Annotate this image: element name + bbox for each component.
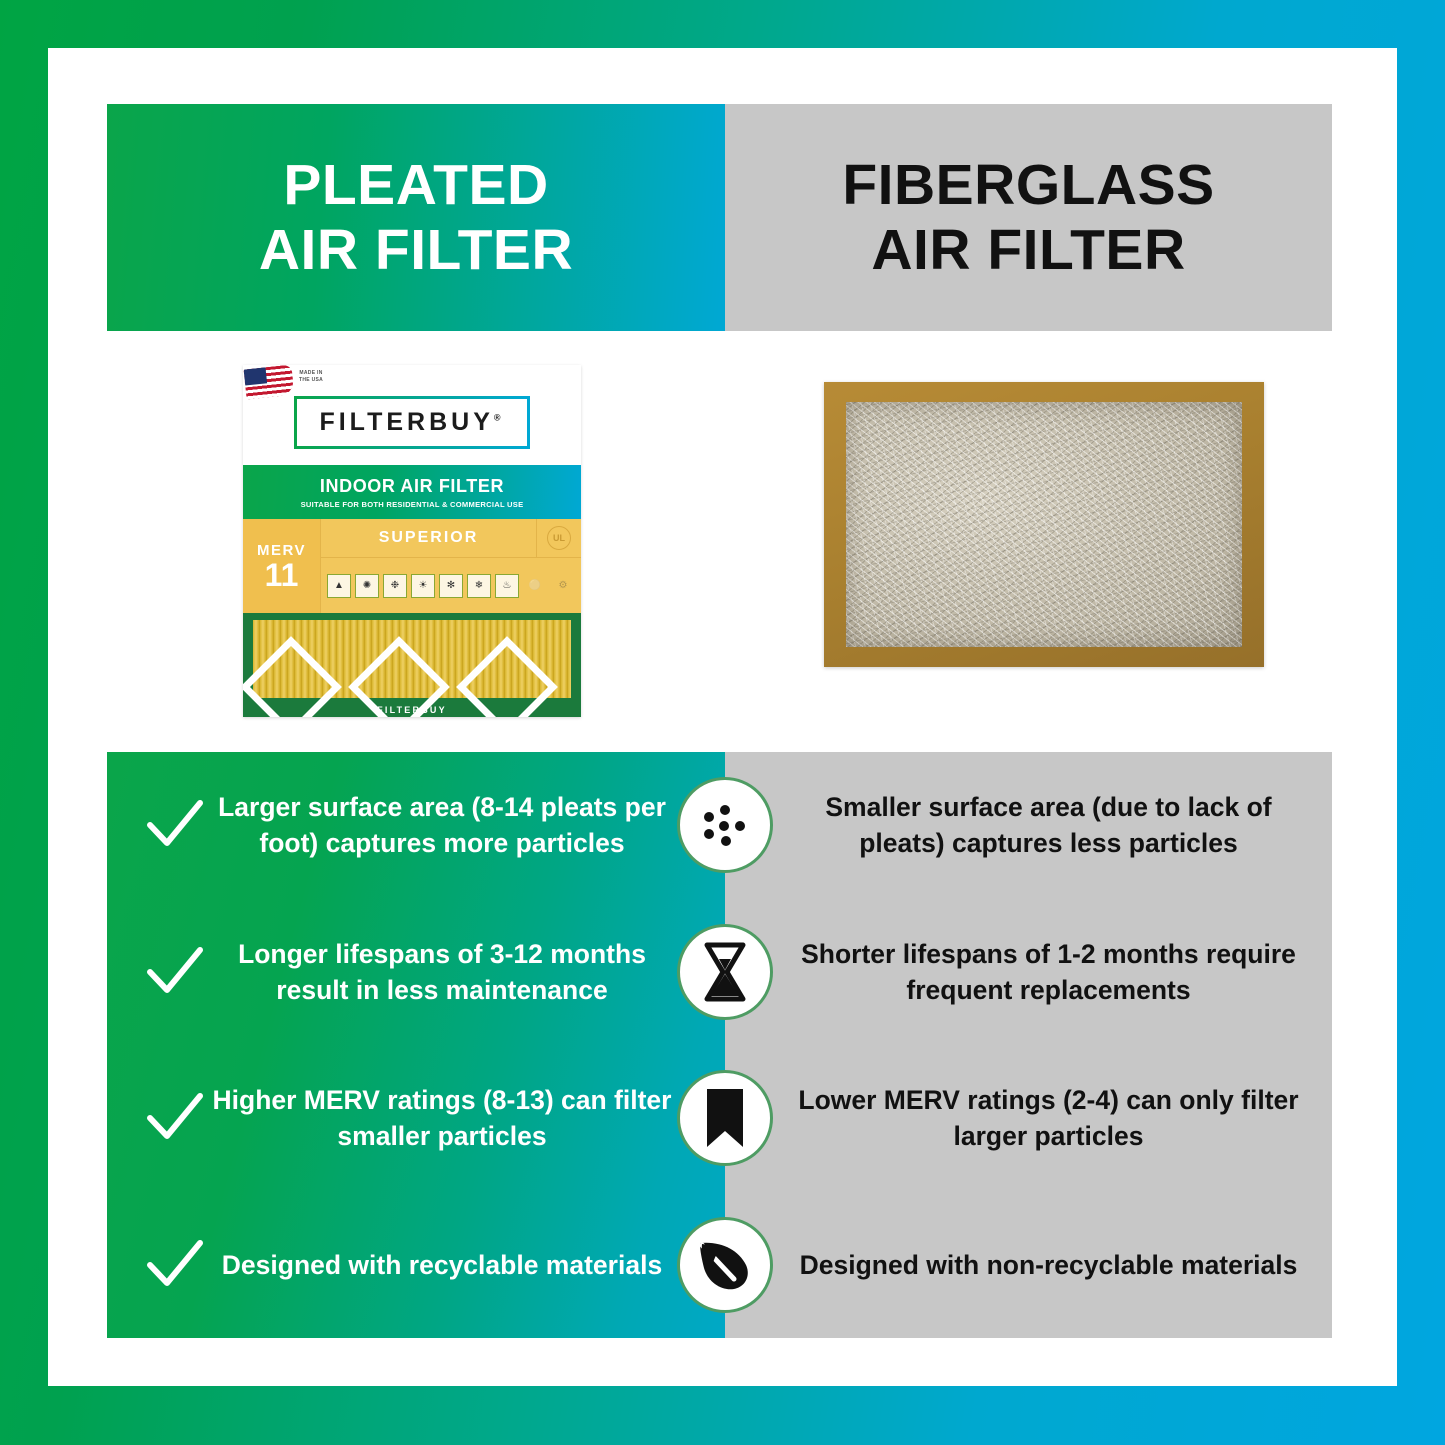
row-left-text: Larger surface area (8-14 pleats per foo… bbox=[207, 789, 677, 861]
pet-dander-icon: ❄ bbox=[467, 574, 491, 598]
made-in-usa-label: MADE IN THE USA bbox=[299, 370, 323, 383]
comparison-row: Higher MERV ratings (8-13) can filter sm… bbox=[107, 1045, 1332, 1192]
row-left-cell: Higher MERV ratings (8-13) can filter sm… bbox=[107, 1082, 725, 1154]
checkmark-icon bbox=[143, 799, 207, 851]
feature-icon-strip: ▲ ✺ ❉ ☀ ✻ ❄ ♨ ⚪ ⚙ bbox=[321, 558, 581, 613]
fiberglass-product-cell bbox=[725, 331, 1332, 752]
dust-icon: ▲ bbox=[327, 574, 351, 598]
filter-footer-brand: FILTERBUY bbox=[243, 705, 581, 715]
filterbuy-logo-text: FILTERBUY® bbox=[319, 408, 504, 437]
fiberglass-filter-product-image bbox=[824, 382, 1264, 667]
infographic-page: PLEATED AIR FILTER FIBERGLASS AIR FILTER… bbox=[0, 0, 1445, 1445]
comparison-rows: Larger surface area (8-14 pleats per foo… bbox=[107, 752, 1332, 1338]
checkmark-icon bbox=[143, 1239, 207, 1291]
mold-icon: ☀ bbox=[411, 574, 435, 598]
bacteria-icon: ✻ bbox=[439, 574, 463, 598]
fiberglass-mesh-texture bbox=[846, 402, 1242, 647]
hourglass-icon bbox=[677, 924, 773, 1020]
comparison-row: Designed with recyclable materials Desig… bbox=[107, 1192, 1332, 1339]
row-left-text: Longer lifespans of 3-12 months result i… bbox=[207, 936, 677, 1008]
band-subtitle: SUITABLE FOR BOTH RESIDENTIAL & COMMERCI… bbox=[301, 500, 524, 509]
filter-box-header: MADE IN THE USA FILTERBUY® bbox=[243, 365, 581, 465]
particles-icon bbox=[677, 777, 773, 873]
row-right-text: Shorter lifespans of 1-2 months require … bbox=[725, 936, 1332, 1008]
filter-box-band: INDOOR AIR FILTER SUITABLE FOR BOTH RESI… bbox=[243, 465, 581, 519]
ul-seal-icon: UL bbox=[547, 526, 571, 550]
row-right-text: Lower MERV ratings (2-4) can only filter… bbox=[725, 1082, 1332, 1154]
row-left-text: Designed with recyclable materials bbox=[207, 1247, 677, 1283]
header-fiberglass: FIBERGLASS AIR FILTER bbox=[725, 104, 1332, 331]
row-left-cell: Longer lifespans of 3-12 months result i… bbox=[107, 936, 725, 1008]
pollen-icon: ❉ bbox=[383, 574, 407, 598]
grade-label: SUPERIOR bbox=[321, 529, 536, 547]
row-right-text: Designed with non-recyclable materials bbox=[725, 1247, 1332, 1283]
header-fiberglass-title: FIBERGLASS AIR FILTER bbox=[842, 153, 1214, 283]
checkmark-icon bbox=[143, 1092, 207, 1144]
grade-row: SUPERIOR UL bbox=[321, 519, 581, 558]
insect-icon: ✺ bbox=[355, 574, 379, 598]
comparison-row: Longer lifespans of 3-12 months result i… bbox=[107, 899, 1332, 1046]
pleated-filter-media: FILTERBUY bbox=[243, 613, 581, 717]
merv-badge: MERV 11 bbox=[243, 519, 321, 613]
pleated-filter-product-image: MADE IN THE USA FILTERBUY® INDOOR AIR FI… bbox=[243, 365, 581, 717]
comparison-row: Larger surface area (8-14 pleats per foo… bbox=[107, 752, 1332, 899]
row-left-cell: Designed with recyclable materials bbox=[107, 1239, 725, 1291]
product-images-row: MADE IN THE USA FILTERBUY® INDOOR AIR FI… bbox=[107, 331, 1332, 752]
smoke-icon: ♨ bbox=[495, 574, 519, 598]
row-left-text: Higher MERV ratings (8-13) can filter sm… bbox=[207, 1082, 677, 1154]
pleated-product-cell: MADE IN THE USA FILTERBUY® INDOOR AIR FI… bbox=[107, 331, 725, 752]
merv-label: MERV bbox=[257, 542, 306, 559]
leaf-icon bbox=[677, 1217, 773, 1313]
header-pleated: PLEATED AIR FILTER bbox=[107, 104, 725, 331]
row-right-text: Smaller surface area (due to lack of ple… bbox=[725, 789, 1332, 861]
comparison-panel: Larger surface area (8-14 pleats per foo… bbox=[107, 752, 1332, 1338]
odor-icon-disabled: ⚪ bbox=[523, 574, 547, 598]
band-title: INDOOR AIR FILTER bbox=[320, 476, 504, 497]
spec-detail-column: SUPERIOR UL ▲ ✺ ❉ ☀ ✻ ❄ ♨ bbox=[321, 519, 581, 613]
comparison-headers: PLEATED AIR FILTER FIBERGLASS AIR FILTER bbox=[107, 104, 1332, 331]
usa-flag-icon bbox=[244, 365, 295, 399]
header-pleated-title: PLEATED AIR FILTER bbox=[259, 153, 573, 283]
virus-icon-disabled: ⚙ bbox=[551, 574, 575, 598]
certification-seal: UL bbox=[536, 519, 581, 557]
bookmark-icon bbox=[677, 1070, 773, 1166]
filter-box-spec-area: MERV 11 SUPERIOR UL ▲ ✺ ❉ bbox=[243, 519, 581, 613]
filterbuy-logo-frame: FILTERBUY® bbox=[294, 396, 529, 449]
row-left-cell: Larger surface area (8-14 pleats per foo… bbox=[107, 789, 725, 861]
merv-value: 11 bbox=[265, 559, 299, 591]
checkmark-icon bbox=[143, 946, 207, 998]
